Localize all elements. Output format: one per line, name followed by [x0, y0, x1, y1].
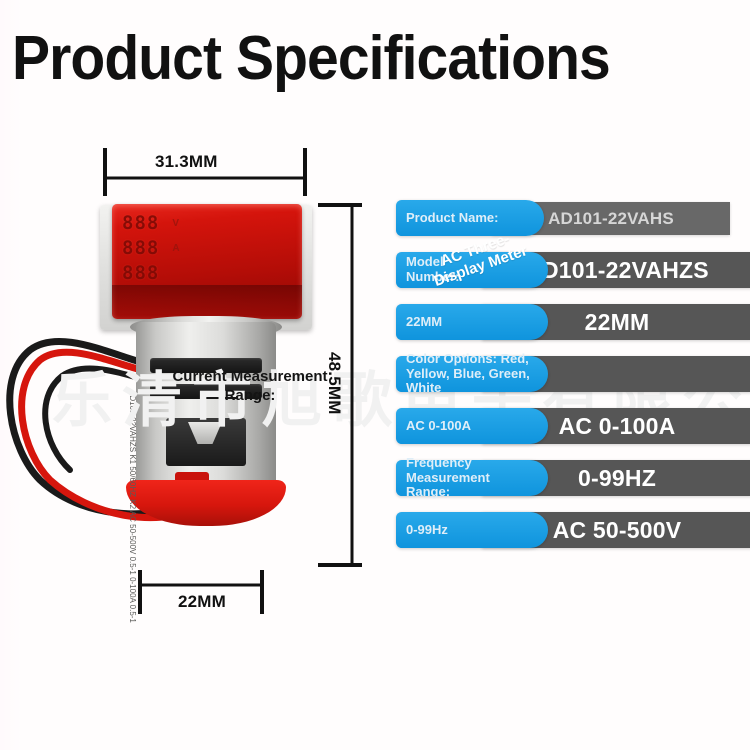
- spec-label: Color Options: Red, Yellow, Blue, Green,…: [406, 352, 548, 397]
- spec-value: AC 0-100A: [559, 413, 676, 440]
- lcd-digits: 888: [122, 262, 159, 284]
- spec-row-product-name: AD101-22VAHS Product Name:: [396, 200, 750, 236]
- product-spec-page: Product Specifications 乐清市旭歌电子有限公司 888 V…: [0, 0, 750, 750]
- spec-value: 22MM: [585, 309, 650, 336]
- spec-label-pill: AC 0-100A: [396, 408, 548, 444]
- dimension-width-bottom: 22MM: [178, 592, 226, 612]
- spec-label: AC 0-100A: [406, 419, 471, 434]
- lcd-digits: 888: [122, 212, 159, 234]
- lcd-row: 888: [122, 262, 292, 284]
- spec-label: Frequency Measurement Range:: [406, 456, 490, 501]
- dimension-width-top: 31.3MM: [155, 152, 218, 172]
- lcd-row: 888 A: [122, 237, 292, 259]
- lcd-digits: 888: [122, 237, 159, 259]
- spec-value: AD101-22VAHZS: [525, 257, 709, 284]
- spec-row-frequency-range: 0-99HZ Frequency Measurement Range:: [396, 460, 750, 496]
- meter-red-lens: 888 V 888 A 888: [112, 204, 302, 319]
- spec-value: AC 50-500V: [553, 517, 682, 544]
- current-measurement-range-note: Current Measurement Range:: [150, 368, 350, 406]
- spec-value: AD101-22VAHS: [548, 209, 674, 229]
- spec-row-model-number: AD101-22VAHZS Model Number: AC Three-Dis…: [396, 252, 750, 288]
- spec-row-voltage-range: AC 50-500V 0-99Hz: [396, 512, 750, 548]
- specifications-list: AD101-22VAHS Product Name: AD101-22VAHZS…: [396, 200, 750, 564]
- spec-label-pill: Frequency Measurement Range:: [396, 460, 548, 496]
- spec-label: Product Name:: [406, 211, 498, 226]
- spec-label-pill: 22MM: [396, 304, 548, 340]
- spec-row-current-range: AC 0-100A AC 0-100A: [396, 408, 750, 444]
- lcd-display: 888 V 888 A 888: [122, 212, 292, 284]
- page-title: Product Specifications: [12, 28, 680, 90]
- lcd-unit-amp: A: [172, 243, 179, 254]
- spec-label-pill: 0-99Hz: [396, 512, 548, 548]
- spec-label-pill: Color Options: Red, Yellow, Blue, Green,…: [396, 356, 548, 392]
- spec-value: 0-99HZ: [578, 465, 656, 492]
- spec-label: 0-99Hz: [406, 523, 448, 538]
- spec-row-color-options: Color Options: Red, Yellow, Blue, Green,…: [396, 356, 750, 392]
- lcd-row: 888 V: [122, 212, 292, 234]
- spec-row-panel-size: 22MM 22MM: [396, 304, 750, 340]
- lcd-unit-volt: V: [172, 218, 179, 229]
- spec-label: 22MM: [406, 315, 442, 330]
